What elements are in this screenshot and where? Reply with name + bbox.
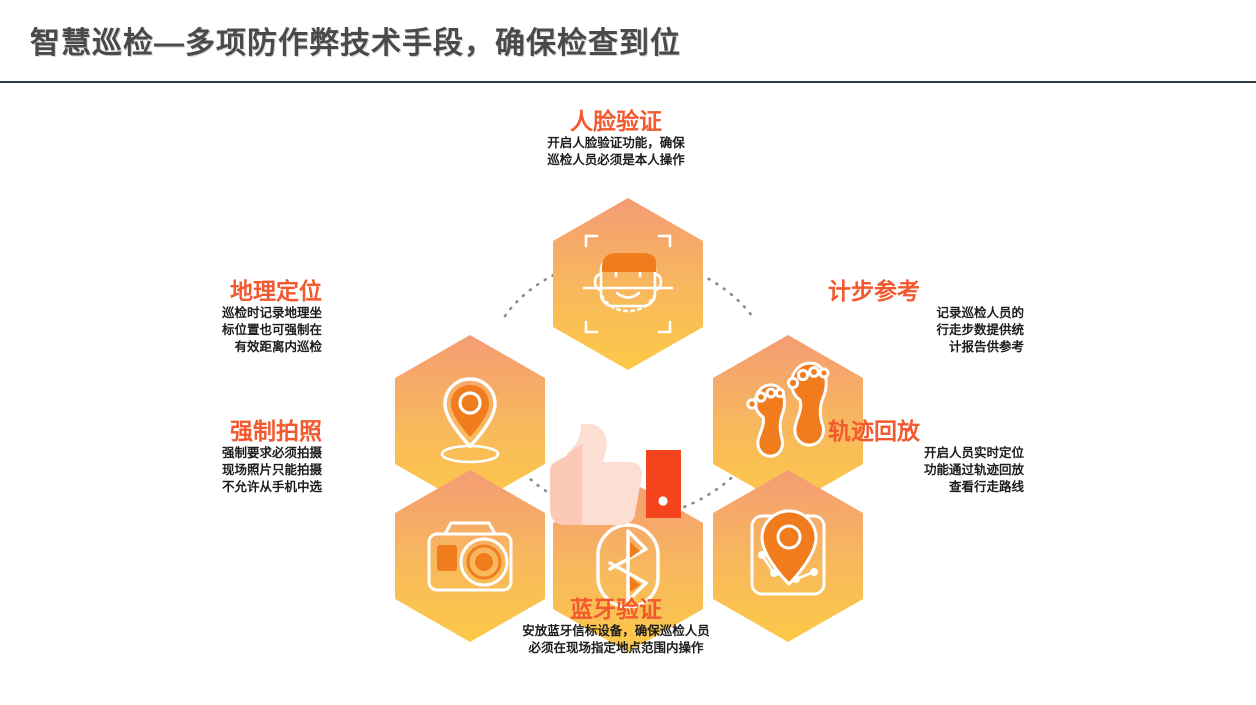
node-title-track: 轨迹回放 bbox=[828, 417, 1024, 445]
desc-line: 计报告供参考 bbox=[828, 339, 1024, 356]
slide-header: 智慧巡检—多项防作弊技术手段，确保检查到位 bbox=[0, 0, 1256, 82]
desc-line: 开启人脸验证功能，确保 bbox=[448, 135, 784, 152]
desc-line: 行走步数提供统 bbox=[828, 322, 1024, 339]
node-text-track: 轨迹回放 开启人员实时定位 功能通过轨迹回放 查看行走路线 bbox=[828, 417, 1024, 496]
center-thumbs-up-icon bbox=[550, 424, 681, 525]
desc-line: 强制要求必须拍摄 bbox=[126, 445, 322, 462]
node-title-photo: 强制拍照 bbox=[126, 417, 322, 445]
node-desc-photo: 强制要求必须拍摄 现场照片只能拍摄 不允许从手机中选 bbox=[126, 445, 322, 496]
node-title-step: 计步参考 bbox=[828, 277, 1024, 305]
desc-line: 开启人员实时定位 bbox=[828, 445, 1024, 462]
desc-line: 功能通过轨迹回放 bbox=[828, 462, 1024, 479]
desc-line: 标位置也可强制在 bbox=[126, 322, 322, 339]
desc-line: 现场照片只能拍摄 bbox=[126, 462, 322, 479]
node-desc-face: 开启人脸验证功能，确保 巡检人员必须是本人操作 bbox=[448, 135, 784, 169]
node-desc-track: 开启人员实时定位 功能通过轨迹回放 查看行走路线 bbox=[828, 445, 1024, 496]
desc-line: 不允许从手机中选 bbox=[126, 479, 322, 496]
node-text-step: 计步参考 记录巡检人员的 行走步数提供统 计报告供参考 bbox=[828, 277, 1024, 356]
desc-line: 巡检人员必须是本人操作 bbox=[448, 152, 784, 169]
node-title-bluetooth: 蓝牙验证 bbox=[440, 595, 792, 623]
face-hair-shape bbox=[602, 253, 656, 272]
node-text-photo: 强制拍照 强制要求必须拍摄 现场照片只能拍摄 不允许从手机中选 bbox=[126, 417, 322, 496]
page-title: 智慧巡检—多项防作弊技术手段，确保检查到位 bbox=[30, 18, 681, 62]
node-title-geo: 地理定位 bbox=[126, 277, 322, 305]
desc-line: 巡检时记录地理坐 bbox=[126, 305, 322, 322]
node-desc-step: 记录巡检人员的 行走步数提供统 计报告供参考 bbox=[828, 305, 1024, 356]
node-face[interactable] bbox=[553, 198, 703, 370]
desc-line: 必须在现场指定地点范围内操作 bbox=[440, 640, 792, 657]
node-text-geo: 地理定位 巡检时记录地理坐 标位置也可强制在 有效距离内巡检 bbox=[126, 277, 322, 356]
node-title-face: 人脸验证 bbox=[448, 107, 784, 135]
node-text-face: 人脸验证 开启人脸验证功能，确保 巡检人员必须是本人操作 bbox=[448, 107, 784, 169]
hexagon-shape bbox=[553, 198, 703, 370]
node-desc-bluetooth: 安放蓝牙信标设备，确保巡检人员 必须在现场指定地点范围内操作 bbox=[440, 623, 792, 657]
desc-line: 查看行走路线 bbox=[828, 479, 1024, 496]
node-desc-geo: 巡检时记录地理坐 标位置也可强制在 有效距离内巡检 bbox=[126, 305, 322, 356]
desc-line: 有效距离内巡检 bbox=[126, 339, 322, 356]
desc-line: 安放蓝牙信标设备，确保巡检人员 bbox=[440, 623, 792, 640]
node-text-bluetooth: 蓝牙验证 安放蓝牙信标设备，确保巡检人员 必须在现场指定地点范围内操作 bbox=[440, 595, 792, 657]
desc-line: 记录巡检人员的 bbox=[828, 305, 1024, 322]
diagram-stage: 人脸验证 开启人脸验证功能，确保 巡检人员必须是本人操作 地理定位 巡检时记录地… bbox=[0, 82, 1256, 705]
